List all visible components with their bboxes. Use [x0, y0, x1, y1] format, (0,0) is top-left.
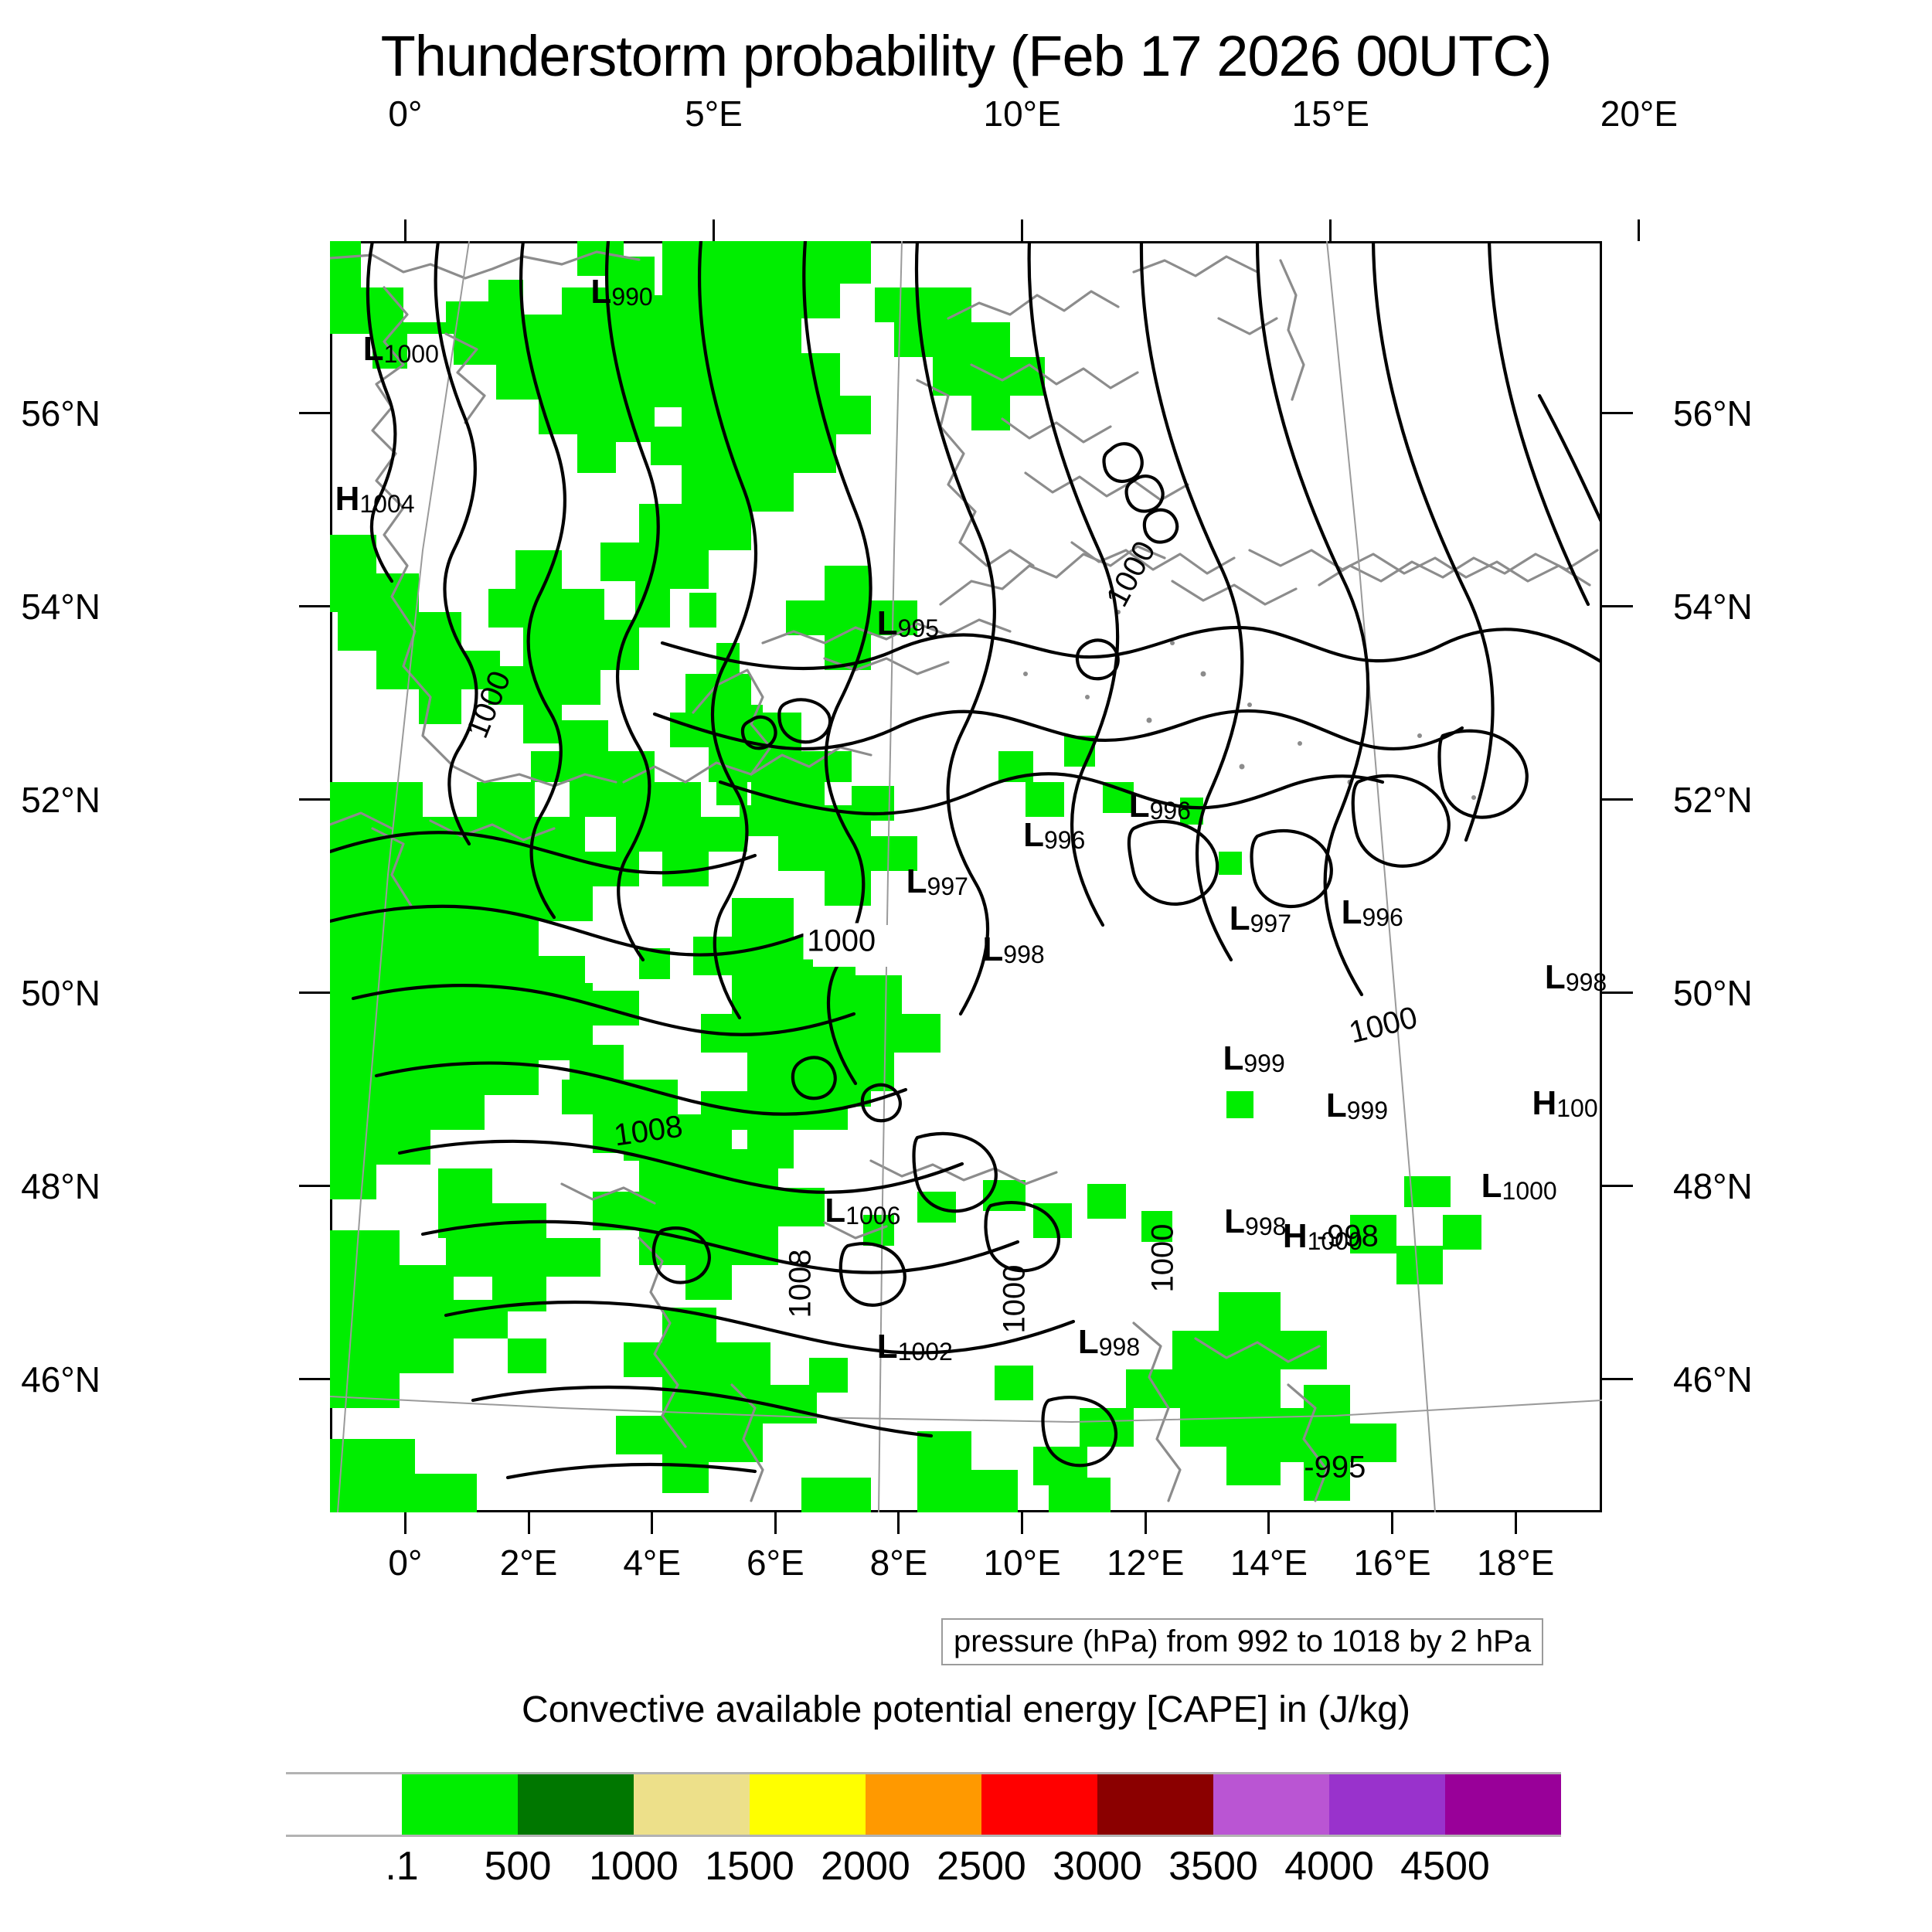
colorbar-tick-1: 500: [485, 1843, 552, 1889]
pressure-center-value: 995: [898, 614, 939, 642]
pressure-center-type: L: [1223, 1039, 1243, 1077]
axis-tick: [897, 1512, 900, 1534]
low-pressure-marker: L998: [982, 930, 1044, 969]
pressure-center-type: H: [1283, 1217, 1308, 1255]
pressure-center-type: L: [1481, 1167, 1502, 1205]
pressure-center-type: L: [825, 1192, 845, 1230]
axis-tick: [1145, 1512, 1147, 1534]
pressure-center-value: 996: [1150, 797, 1191, 825]
pressure-center-type: H: [1532, 1084, 1556, 1122]
axis-tick: [404, 219, 406, 241]
top-tick-label-1: 5°E: [685, 93, 743, 134]
colorbar-segment-2[interactable]: [518, 1774, 634, 1835]
pressure-center-value: 998: [1566, 968, 1607, 996]
low-pressure-marker: L997: [906, 862, 968, 901]
right-tick-label-3: 50°N: [1673, 972, 1753, 1014]
bottom-tick-label-3: 6°E: [747, 1542, 804, 1583]
axis-tick: [1021, 219, 1023, 241]
pressure-center-value: 997: [927, 872, 968, 900]
pressure-center-type: L: [877, 1328, 898, 1366]
low-pressure-marker: L998: [1078, 1323, 1140, 1362]
contour-value-label: 1008: [784, 1249, 818, 1318]
colorbar-tick-9: 4500: [1400, 1843, 1490, 1889]
contour-value-label: 1000: [997, 1264, 1032, 1333]
colorbar-segment-3[interactable]: [634, 1774, 750, 1835]
pressure-center-type: H: [335, 480, 360, 518]
pressure-center-value: 100: [1556, 1094, 1597, 1122]
low-pressure-marker: L995: [877, 604, 939, 643]
axis-tick: [299, 412, 330, 414]
colorbar-segment-1[interactable]: [402, 1774, 518, 1835]
colorbar-tick-7: 3500: [1168, 1843, 1258, 1889]
pressure-center-value: 998: [1245, 1213, 1286, 1240]
coastline-fragments: [1023, 610, 1476, 800]
colorbar-tick-labels: .150010001500200025003000350040004500: [286, 1843, 1677, 1897]
colorbar-tick-2: 1000: [589, 1843, 679, 1889]
left-tick-label-2: 52°N: [21, 779, 100, 821]
axis-tick: [1267, 1512, 1270, 1534]
axis-tick: [299, 1185, 330, 1187]
axis-tick: [1638, 219, 1640, 241]
bottom-tick-label-2: 4°E: [623, 1542, 681, 1583]
pressure-center-value: 997: [1250, 910, 1291, 937]
pressure-center-type: L: [1023, 816, 1044, 854]
low-pressure-marker: L997: [1230, 900, 1291, 938]
axis-tick: [1391, 1512, 1393, 1534]
pressure-center-value: 1000: [1502, 1177, 1557, 1205]
pressure-range-note: pressure (hPa) from 992 to 1018 by 2 hPa: [941, 1618, 1543, 1665]
pressure-center-value: 1002: [898, 1338, 953, 1366]
colorbar-segment-8[interactable]: [1213, 1774, 1329, 1835]
pressure-center-value: 998: [1003, 940, 1044, 968]
low-pressure-marker: L998: [1545, 958, 1607, 997]
colorbar-segment-6[interactable]: [981, 1774, 1097, 1835]
axis-tick: [774, 1512, 777, 1534]
axis-tick: [1329, 219, 1332, 241]
pressure-center-type: L: [1078, 1323, 1099, 1361]
page-title: Thunderstorm probability (Feb 17 2026 00…: [0, 23, 1932, 89]
colorbar-tick-0: .1: [385, 1843, 418, 1889]
axis-tick: [299, 798, 330, 801]
right-tick-label-4: 48°N: [1673, 1165, 1753, 1207]
bottom-tick-label-6: 12°E: [1107, 1542, 1184, 1583]
colorbar-segment-9[interactable]: [1329, 1774, 1445, 1835]
axis-tick: [651, 1512, 653, 1534]
colorbar-tick-4: 2000: [821, 1843, 910, 1889]
pressure-center-value: 1004: [359, 490, 414, 518]
left-tick-label-5: 46°N: [21, 1359, 100, 1400]
pressure-center-type: L: [590, 273, 611, 311]
high-pressure-marker: H1004: [335, 480, 415, 519]
bottom-tick-label-7: 14°E: [1230, 1542, 1308, 1583]
low-pressure-marker: L996: [1023, 816, 1085, 855]
pressure-center-value: 1000: [384, 340, 439, 368]
pressure-center-value: 990: [611, 283, 652, 311]
pressure-center-value: 998: [1099, 1333, 1140, 1361]
bottom-tick-label-4: 8°E: [870, 1542, 928, 1583]
top-tick-label-3: 15°E: [1292, 93, 1369, 134]
bottom-tick-label-0: 0°: [388, 1542, 422, 1583]
pressure-center-type: L: [1545, 958, 1566, 996]
colorbar-tick-6: 3000: [1053, 1843, 1142, 1889]
bottom-tick-label-1: 2°E: [500, 1542, 558, 1583]
right-tick-label-5: 46°N: [1673, 1359, 1753, 1400]
axis-tick: [1602, 605, 1633, 607]
axis-tick: [1515, 1512, 1517, 1534]
axis-tick: [299, 992, 330, 994]
pressure-center-type: L: [1326, 1087, 1347, 1124]
low-pressure-marker: L998: [1224, 1202, 1286, 1241]
low-pressure-marker: L999: [1223, 1039, 1284, 1078]
colorbar-tick-5: 2500: [937, 1843, 1026, 1889]
low-pressure-marker: L1002: [877, 1328, 953, 1366]
bottom-tick-label-9: 18°E: [1477, 1542, 1554, 1583]
colorbar-segment-4[interactable]: [750, 1774, 866, 1835]
left-tick-label-0: 56°N: [21, 393, 100, 434]
pressure-center-type: L: [1129, 787, 1150, 825]
axis-tick: [1021, 1512, 1023, 1534]
contour-value-label: 1000: [803, 923, 879, 960]
low-pressure-marker: L1006: [825, 1192, 900, 1230]
low-pressure-marker: L1000: [363, 330, 439, 369]
pressure-center-type: L: [906, 862, 927, 900]
top-tick-label-4: 20°E: [1600, 93, 1678, 134]
contour-value-label: 1000: [1146, 1224, 1181, 1293]
bottom-tick-label-8: 16°E: [1353, 1542, 1430, 1583]
pressure-center-type: L: [363, 330, 384, 368]
low-pressure-marker: L990: [590, 273, 652, 311]
left-tick-label-3: 50°N: [21, 972, 100, 1014]
low-pressure-marker: L996: [1129, 787, 1191, 825]
colorbar-title: Convective available potential energy [C…: [0, 1689, 1932, 1731]
axis-tick: [404, 1512, 406, 1534]
axis-tick: [1602, 1185, 1633, 1187]
axis-tick: [1602, 798, 1633, 801]
right-tick-label-0: 56°N: [1673, 393, 1753, 434]
axis-tick: [299, 1378, 330, 1380]
bottom-tick-label-5: 10°E: [984, 1542, 1061, 1583]
right-tick-label-2: 52°N: [1673, 779, 1753, 821]
low-pressure-marker: L996: [1342, 893, 1403, 932]
top-tick-label-0: 0°: [388, 93, 422, 134]
top-tick-label-2: 10°E: [984, 93, 1061, 134]
pressure-center-type: L: [1230, 900, 1250, 937]
pressure-center-value: 999: [1347, 1097, 1388, 1124]
axis-tick: [1602, 412, 1633, 414]
colorbar-tick-8: 4000: [1284, 1843, 1374, 1889]
high-pressure-marker: H100: [1532, 1084, 1597, 1123]
colorbar-segment-0[interactable]: [286, 1774, 402, 1835]
cape-colorbar[interactable]: [286, 1772, 1561, 1837]
axis-tick: [1602, 1378, 1633, 1380]
pressure-center-type: L: [982, 930, 1003, 968]
left-tick-label-4: 48°N: [21, 1165, 100, 1207]
pressure-center-value: 996: [1044, 826, 1085, 854]
contour-value-label: -995: [1304, 1451, 1366, 1485]
axis-tick: [299, 605, 330, 607]
low-pressure-marker: L999: [1326, 1087, 1388, 1125]
axis-tick: [528, 1512, 530, 1534]
pressure-center-type: L: [877, 604, 898, 642]
pressure-center-value: 996: [1362, 903, 1403, 931]
pressure-center-type: L: [1342, 893, 1362, 931]
pressure-center-value: 1006: [845, 1202, 900, 1230]
pressure-center-type: L: [1224, 1202, 1245, 1240]
pressure-center-value: 999: [1243, 1049, 1284, 1077]
left-tick-label-1: 54°N: [21, 586, 100, 628]
colorbar-segment-7[interactable]: [1097, 1774, 1213, 1835]
contour-value-label: -998: [1317, 1219, 1379, 1254]
right-tick-label-1: 54°N: [1673, 586, 1753, 628]
axis-tick: [713, 219, 715, 241]
low-pressure-marker: L1000: [1481, 1167, 1557, 1206]
colorbar-tick-3: 1500: [705, 1843, 794, 1889]
colorbar-segment-10[interactable]: [1445, 1774, 1561, 1835]
colorbar-segment-5[interactable]: [866, 1774, 981, 1835]
